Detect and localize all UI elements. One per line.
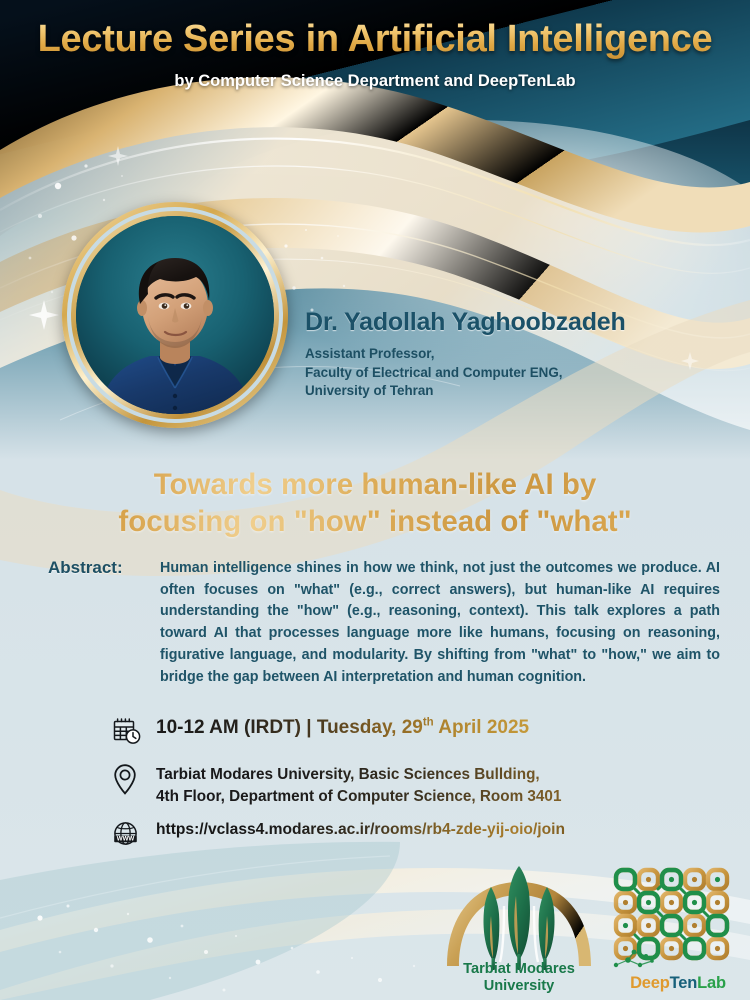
globe-www-icon: WWW [112,820,156,854]
globe-www-glyph: WWW [112,820,142,850]
dtl-name-ten: Ten [670,974,698,992]
talk-title-line-2: focusing on "how" instead of "what" [28,503,722,540]
svg-text:WWW: WWW [117,836,135,843]
header-subtitle: by Computer Science Department and DeepT… [0,72,750,91]
talk-title-line-1: Towards more human-like AI by [28,466,722,503]
deeptenlab-name: DeepTenLab [606,974,750,993]
poster-header: Lecture Series in Artificial Intelligenc… [0,0,750,112]
abstract-label: Abstract: [48,558,160,578]
speaker-avatar [62,202,288,428]
calendar-clock-icon [112,716,156,750]
talk-title: Towards more human-like AI by focusing o… [0,466,750,540]
datetime-text: 10-12 AM (IRDT) | Tuesday, 29th April 20… [156,717,529,738]
affiliation-line-2: Faculty of Electrical and Computer ENG, [305,364,626,383]
tarbiat-modares-tulip-icon [434,866,604,970]
poster-canvas: Lecture Series in Artificial Intelligenc… [0,0,750,1000]
tarbiat-modares-logo: Tarbiat Modares University [434,866,604,996]
tmu-name-line-2: University [434,978,604,994]
detail-row-datetime: 10-12 AM (IRDT) | Tuesday, 29th April 20… [112,716,732,750]
datetime-text-wrap: 10-12 AM (IRDT) | Tuesday, 29th April 20… [156,716,732,739]
location-text-wrap: Tarbiat Modares University, Basic Scienc… [156,763,732,807]
deeptenlab-grid-icon [612,866,734,970]
speaker-name: Dr. Yadollah Yaghoobzadeh [305,308,626,337]
link-text-wrap: https://vclass4.modares.ac.ir/rooms/rb4-… [156,820,732,839]
location-line-1: Tarbiat Modares University, Basic Scienc… [156,764,732,786]
dtl-name-deep: Deep [630,974,670,992]
event-details: 10-12 AM (IRDT) | Tuesday, 29th April 20… [112,716,732,867]
abstract-section: Abstract: Human intelligence shines in h… [48,558,720,688]
dtl-name-lab: Lab [697,974,726,992]
location-pin-glyph [112,763,142,797]
location-line-2: 4th Floor, Department of Computer Scienc… [156,786,732,808]
speaker-info: Dr. Yadollah Yaghoobzadeh Assistant Prof… [305,308,626,401]
speaker-affiliation: Assistant Professor, Faculty of Electric… [305,345,626,401]
calendar-clock-glyph [112,716,142,746]
affiliation-line-1: Assistant Professor, [305,345,626,364]
location-pin-icon [112,763,156,797]
tmu-name-line-1: Tarbiat Modares [434,961,604,977]
detail-row-link: WWW https://vclass4.modares.ac.ir/rooms/… [112,820,732,854]
meeting-link[interactable]: https://vclass4.modares.ac.ir/rooms/rb4-… [156,821,565,838]
speaker-photo-illustration [76,216,274,414]
detail-row-location: Tarbiat Modares University, Basic Scienc… [112,763,732,807]
deeptenlab-logo: DeepTenLab [612,866,744,996]
speaker-photo [76,216,274,414]
page-title: Lecture Series in Artificial Intelligenc… [0,18,750,61]
abstract-text: Human intelligence shines in how we thin… [160,558,720,688]
tarbiat-modares-name: Tarbiat Modares University [434,961,604,994]
affiliation-line-3: University of Tehran [305,382,626,401]
